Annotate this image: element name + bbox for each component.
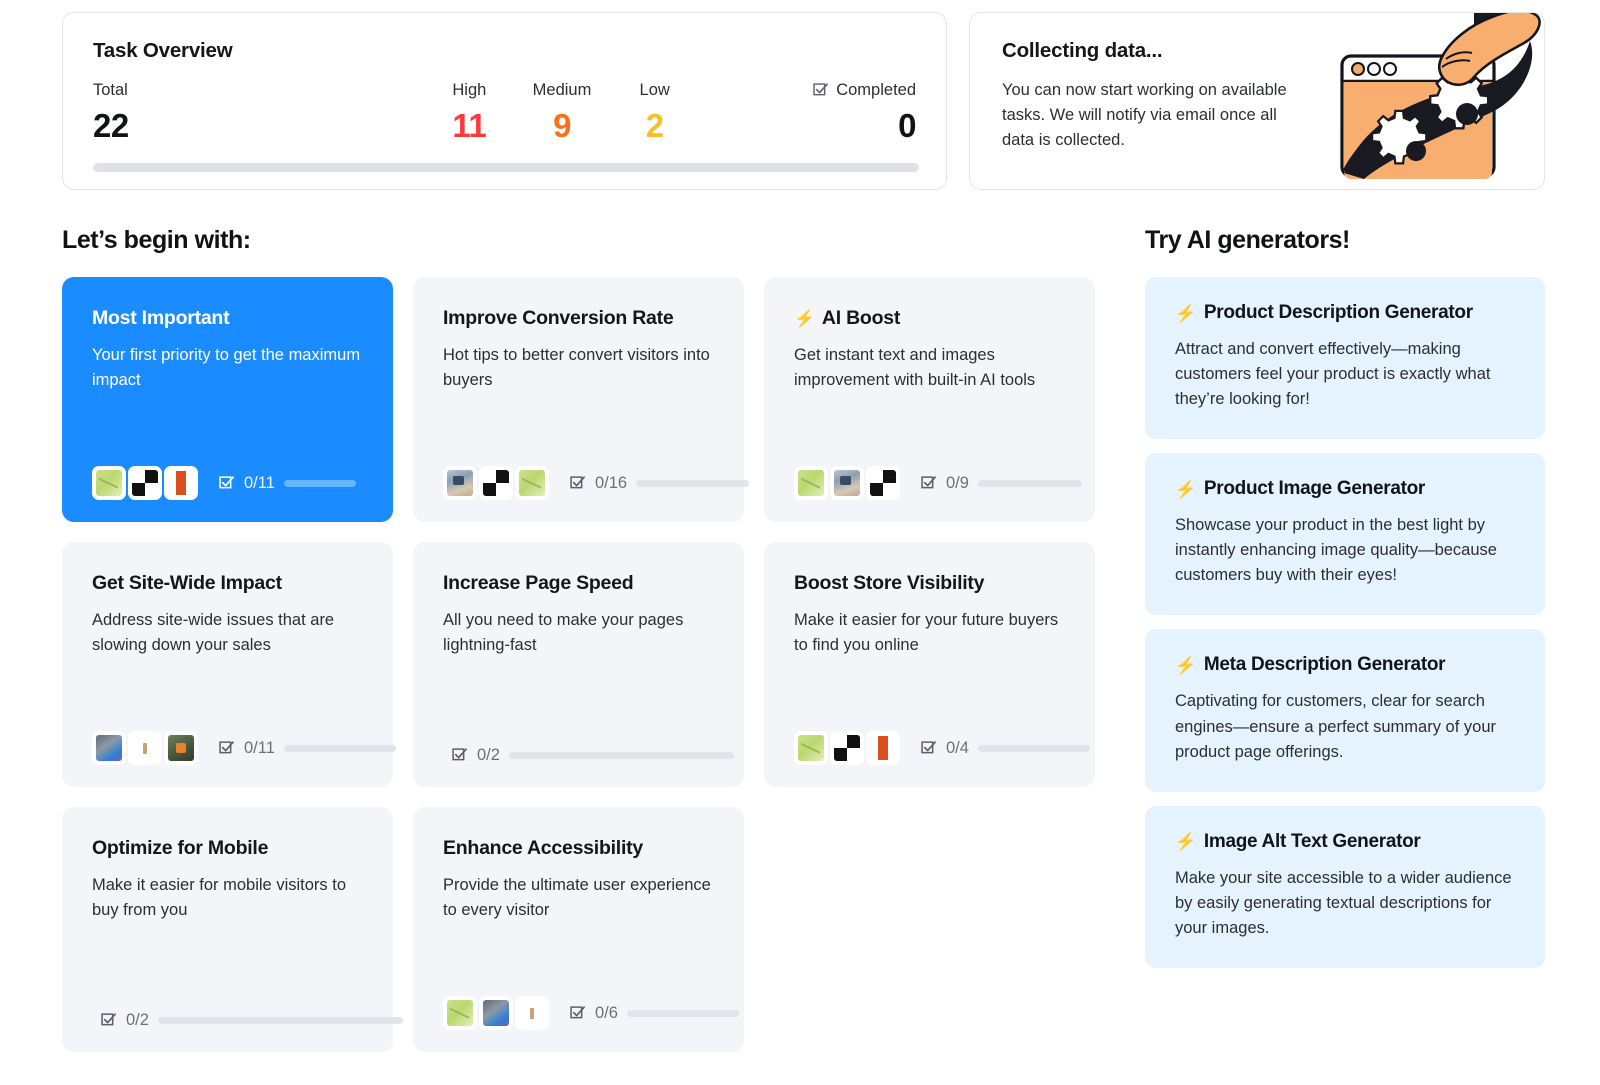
ai-generator-description: Showcase your product in the best light … [1175, 513, 1518, 588]
lightning-bolt-icon: ⚡ [1175, 657, 1196, 674]
task-card-title: Increase Page Speed [443, 572, 718, 595]
task-card-footer: 0/16 [443, 446, 718, 500]
metric-completed-label: Completed [836, 81, 916, 101]
task-thumbnail-group[interactable] [92, 731, 200, 765]
task-card-title-text: Most Important [92, 307, 229, 330]
task-thumbnail[interactable] [92, 466, 126, 500]
task-thumbnail[interactable] [830, 731, 864, 765]
ai-generator-card[interactable]: ⚡Meta Description GeneratorCaptivating f… [1145, 629, 1545, 791]
task-progress-text: 0/2 [477, 746, 500, 765]
task-card-description: Provide the ultimate user experience to … [443, 873, 718, 923]
task-thumbnail[interactable] [515, 996, 549, 1030]
metric-completed-value: 0 [898, 107, 916, 145]
task-thumbnail[interactable] [479, 996, 513, 1030]
metric-completed: Completed 0 [701, 81, 916, 145]
metric-high-value: 11 [452, 107, 486, 145]
thumbnail-image [96, 470, 122, 496]
task-progress-text: 0/9 [946, 474, 969, 493]
task-card-title: Improve Conversion Rate [443, 307, 718, 330]
task-card[interactable]: Boost Store VisibilityMake it easier for… [764, 542, 1095, 787]
thumbnail-image [168, 470, 194, 496]
task-card-title: Most Important [92, 307, 367, 330]
task-card-description: Get instant text and images improvement … [794, 343, 1069, 393]
task-progress-bar [978, 745, 1090, 752]
ai-generator-description: Captivating for customers, clear for sea… [1175, 689, 1518, 764]
task-thumbnail-group[interactable] [794, 466, 902, 500]
metric-total: Total 22 [93, 81, 423, 145]
task-card-description: Make it easier for your future buyers to… [794, 608, 1069, 658]
task-card-description: Make it easier for mobile visitors to bu… [92, 873, 367, 923]
thumbnail-image [798, 470, 824, 496]
ai-generator-title: ⚡Product Image Generator [1175, 478, 1518, 500]
ai-generator-title-text: Image Alt Text Generator [1204, 831, 1421, 853]
thumbnail-image [483, 470, 509, 496]
ai-generator-description: Make your site accessible to a wider aud… [1175, 866, 1518, 941]
task-thumbnail[interactable] [128, 731, 162, 765]
ai-generator-list: ⚡Product Description GeneratorAttract an… [1145, 277, 1545, 968]
task-progress-text: 0/4 [946, 739, 969, 758]
ai-generator-title-text: Product Description Generator [1204, 302, 1473, 324]
task-card-description: Address site-wide issues that are slowin… [92, 608, 367, 658]
checkbox-check-icon [451, 747, 468, 764]
task-card-description: Hot tips to better convert visitors into… [443, 343, 718, 393]
metric-total-value: 22 [93, 107, 129, 145]
thumbnail-image [519, 470, 545, 496]
task-thumbnail[interactable] [128, 466, 162, 500]
ai-generator-title-text: Meta Description Generator [1204, 654, 1445, 676]
checkbox-check-icon [569, 475, 586, 492]
task-card-title: Enhance Accessibility [443, 837, 718, 860]
task-card-title-text: Boost Store Visibility [794, 572, 984, 595]
task-card-title-text: Enhance Accessibility [443, 837, 643, 860]
task-overview-title: Task Overview [93, 39, 916, 63]
metric-completed-label-row: Completed [812, 81, 916, 101]
checkbox-check-icon [218, 740, 235, 757]
lightning-bolt-icon: ⚡ [1175, 305, 1196, 322]
task-progress-text: 0/11 [244, 474, 275, 493]
task-progress-text: 0/11 [244, 739, 275, 758]
lightning-bolt-icon: ⚡ [1175, 833, 1196, 850]
thumbnail-image [483, 1000, 509, 1026]
task-card-footer: 0/4 [794, 711, 1069, 765]
task-card[interactable]: Increase Page SpeedAll you need to make … [413, 542, 744, 787]
task-card-title: Get Site-Wide Impact [92, 572, 367, 595]
task-card-title-text: Optimize for Mobile [92, 837, 268, 860]
task-card[interactable]: ⚡AI BoostGet instant text and images imp… [764, 277, 1095, 522]
thumbnail-image [132, 470, 158, 496]
thumbnail-image [870, 470, 896, 496]
tasks-column: Let’s begin with: Most ImportantYour fir… [62, 226, 1103, 1052]
task-thumbnail[interactable] [830, 466, 864, 500]
thumbnail-image [447, 470, 473, 496]
task-thumbnail-group[interactable] [443, 466, 551, 500]
task-progress-bar [627, 1010, 739, 1017]
thumbnail-image [96, 735, 122, 761]
metric-low: Low 2 [608, 81, 701, 145]
ai-generator-card[interactable]: ⚡Product Image GeneratorShowcase your pr… [1145, 453, 1545, 615]
task-card-title-text: Get Site-Wide Impact [92, 572, 282, 595]
task-progress-text: 0/16 [595, 474, 627, 493]
task-thumbnail[interactable] [866, 731, 900, 765]
overall-progress-bar [93, 163, 919, 172]
try-ai-generators-heading: Try AI generators! [1145, 226, 1545, 255]
task-progress-bar [978, 480, 1082, 487]
checkbox-check-icon [920, 740, 937, 757]
task-progress: 0/6 [569, 1004, 739, 1023]
lets-begin-heading: Let’s begin with: [62, 226, 1103, 255]
task-card-footer: 0/2 [92, 991, 367, 1030]
metric-high: High 11 [423, 81, 516, 145]
task-progress: 0/2 [100, 1011, 403, 1030]
task-progress-bar [509, 752, 734, 759]
task-progress: 0/11 [218, 474, 356, 493]
task-thumbnail-group[interactable] [92, 466, 200, 500]
thumbnail-image [870, 735, 896, 761]
checkbox-check-icon [812, 82, 829, 99]
ai-generator-description: Attract and convert effectively—making c… [1175, 337, 1518, 412]
collecting-text: You can now start working on available t… [1002, 78, 1292, 153]
task-card-description: Your first priority to get the maximum i… [92, 343, 367, 393]
task-overview-card: Task Overview Total 22 High 11 Medium 9 … [62, 12, 947, 190]
thumbnail-image [168, 735, 194, 761]
thumbnail-image [447, 1000, 473, 1026]
thumbnail-image [834, 735, 860, 761]
task-thumbnail[interactable] [515, 466, 549, 500]
thumbnail-image [132, 735, 158, 761]
ai-generators-column: Try AI generators! ⚡Product Description … [1145, 226, 1545, 1052]
task-card-footer: 0/2 [443, 726, 718, 765]
task-thumbnail-group[interactable] [443, 996, 551, 1030]
task-card[interactable]: Most ImportantYour first priority to get… [62, 277, 393, 522]
task-thumbnail[interactable] [794, 466, 828, 500]
task-overview-metrics: Total 22 High 11 Medium 9 Low 2 [93, 81, 916, 145]
task-thumbnail[interactable] [164, 466, 198, 500]
metric-medium-value: 9 [553, 107, 571, 145]
ai-generator-title-text: Product Image Generator [1204, 478, 1425, 500]
task-card-title-text: AI Boost [822, 307, 900, 330]
metric-medium: Medium 9 [516, 81, 609, 145]
task-thumbnail[interactable] [794, 731, 828, 765]
task-card-footer: 0/11 [92, 446, 367, 500]
task-progress: 0/11 [218, 739, 396, 758]
checkbox-check-icon [569, 1005, 586, 1022]
task-thumbnail[interactable] [443, 996, 477, 1030]
metric-high-label: High [452, 81, 486, 101]
task-card-title-text: Improve Conversion Rate [443, 307, 673, 330]
checkbox-check-icon [920, 475, 937, 492]
task-progress-text: 0/2 [126, 1011, 149, 1030]
ai-generator-card[interactable]: ⚡Product Description GeneratorAttract an… [1145, 277, 1545, 439]
task-progress-bar [636, 480, 749, 487]
metric-low-value: 2 [646, 107, 664, 145]
task-card-footer: 0/6 [443, 976, 718, 1030]
task-card-description: All you need to make your pages lightnin… [443, 608, 718, 658]
task-card[interactable]: Enhance AccessibilityProvide the ultimat… [413, 807, 744, 1052]
metric-medium-label: Medium [533, 81, 592, 101]
lightning-bolt-icon: ⚡ [794, 310, 815, 327]
collecting-data-card: Collecting data... You can now start wor… [969, 12, 1545, 190]
task-card-title: Boost Store Visibility [794, 572, 1069, 595]
task-card-title-text: Increase Page Speed [443, 572, 633, 595]
task-progress: 0/16 [569, 474, 749, 493]
task-card[interactable]: Optimize for MobileMake it easier for mo… [62, 807, 393, 1052]
summary-row: Task Overview Total 22 High 11 Medium 9 … [0, 0, 1600, 190]
task-progress-bar [284, 480, 356, 487]
ai-generator-card[interactable]: ⚡Image Alt Text GeneratorMake your site … [1145, 806, 1545, 968]
ai-generator-title: ⚡Meta Description Generator [1175, 654, 1518, 676]
thumbnail-image [834, 470, 860, 496]
task-thumbnail[interactable] [92, 731, 126, 765]
task-thumbnail[interactable] [866, 466, 900, 500]
task-card-footer: 0/9 [794, 446, 1069, 500]
content-area: Let’s begin with: Most ImportantYour fir… [0, 226, 1600, 1052]
thumbnail-image [519, 1000, 545, 1026]
task-card[interactable]: Improve Conversion RateHot tips to bette… [413, 277, 744, 522]
ai-generator-title: ⚡Image Alt Text Generator [1175, 831, 1518, 853]
task-progress: 0/9 [920, 474, 1082, 493]
metric-low-label: Low [640, 81, 670, 101]
task-progress-text: 0/6 [595, 1004, 618, 1023]
task-thumbnail-group[interactable] [794, 731, 902, 765]
task-card-grid: Most ImportantYour first priority to get… [62, 277, 1103, 1052]
task-card-title: Optimize for Mobile [92, 837, 367, 860]
task-card-title: ⚡AI Boost [794, 307, 1069, 330]
task-progress: 0/2 [451, 746, 734, 765]
task-thumbnail[interactable] [443, 466, 477, 500]
thumbnail-image [798, 735, 824, 761]
task-thumbnail[interactable] [479, 466, 513, 500]
checkbox-check-icon [100, 1012, 117, 1029]
ai-generator-title: ⚡Product Description Generator [1175, 302, 1518, 324]
lightning-bolt-icon: ⚡ [1175, 481, 1196, 498]
checkbox-check-icon [218, 475, 235, 492]
task-progress: 0/4 [920, 739, 1090, 758]
dashboard-page: Task Overview Total 22 High 11 Medium 9 … [0, 0, 1600, 1085]
task-card[interactable]: Get Site-Wide ImpactAddress site-wide is… [62, 542, 393, 787]
task-progress-bar [284, 745, 396, 752]
task-card-footer: 0/11 [92, 711, 367, 765]
task-thumbnail[interactable] [164, 731, 198, 765]
browser-gears-hand-icon [1324, 12, 1545, 190]
metric-total-label: Total [93, 81, 128, 101]
task-progress-bar [158, 1017, 403, 1024]
